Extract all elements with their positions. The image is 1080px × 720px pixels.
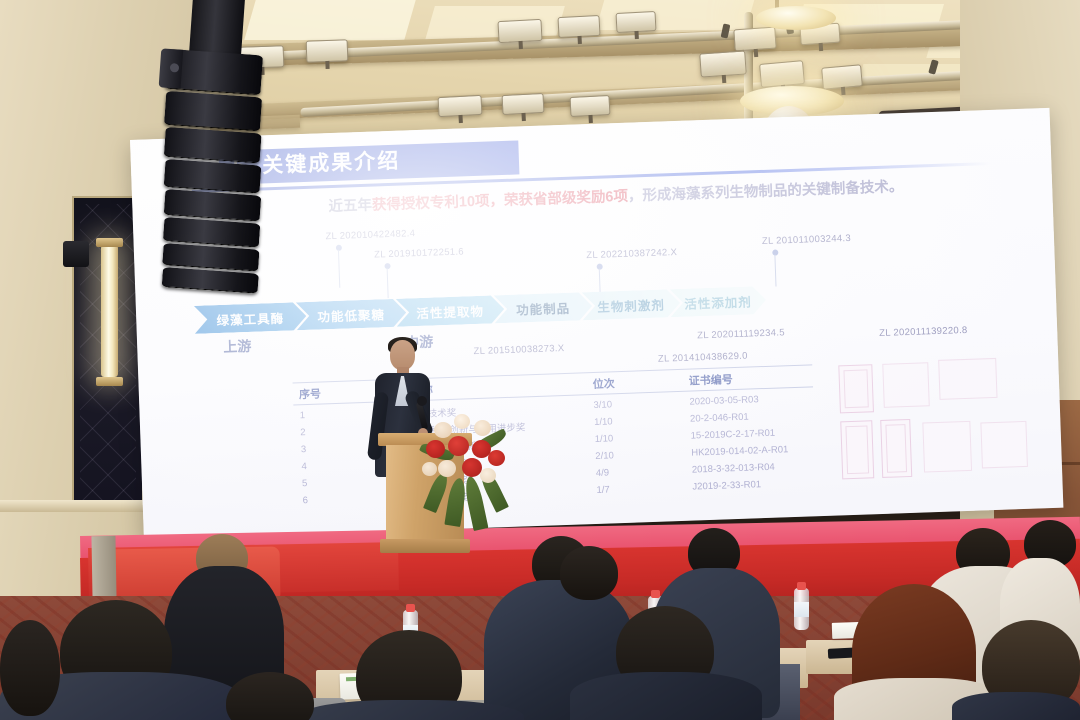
table-cell: 2/10 — [595, 450, 614, 462]
flower-white — [454, 414, 470, 429]
stage-light — [616, 11, 657, 33]
stage-light — [570, 95, 611, 117]
audience-body — [952, 692, 1080, 720]
flower-white — [480, 468, 496, 483]
audience-head — [560, 546, 618, 600]
flow-step-4: 功能制品 — [494, 292, 593, 323]
stage-sofa-arm — [91, 536, 116, 598]
sconce-cap — [96, 377, 123, 386]
sconce-cap — [96, 238, 123, 247]
flower-white — [422, 462, 437, 476]
bottle-cap — [651, 590, 660, 598]
patent-leader-line — [774, 255, 776, 287]
flow-step-5: 生物刺激剂 — [582, 289, 681, 320]
flow-step-6: 活性添加剂 — [670, 286, 767, 317]
wall-sconce-light — [101, 245, 118, 377]
stage-light — [438, 95, 483, 117]
presenter-head — [390, 340, 415, 370]
certificate-thumbnail — [980, 421, 1028, 469]
table-cell: 3 — [301, 444, 307, 455]
table-header-cell: 位次 — [593, 375, 616, 392]
patent-leader-line — [338, 250, 340, 288]
table-cell: 6 — [303, 495, 309, 506]
chandelier-shade — [756, 6, 836, 30]
table-cell: J2019-2-33-R01 — [692, 479, 761, 492]
bottle-cap — [406, 604, 415, 612]
bottle-label — [794, 602, 809, 617]
certificate-thumbnail — [840, 420, 874, 479]
stage-light — [497, 19, 542, 43]
audience-body — [570, 672, 762, 720]
microphone-head — [417, 396, 427, 406]
stage-light — [306, 39, 349, 62]
table-cell: 4 — [301, 461, 307, 472]
lectern-base — [380, 539, 470, 553]
table-cell: 3/10 — [593, 399, 612, 411]
certificate-thumbnail — [882, 362, 930, 408]
certificate-thumbnail — [938, 358, 997, 400]
table-cell: 15-2019C-2-17-R01 — [690, 428, 775, 442]
table-cell: 1/10 — [595, 433, 614, 445]
patent-leader-line — [599, 269, 601, 295]
patent-number: ZL 201910172251.6 — [374, 246, 464, 260]
leaf — [444, 477, 467, 527]
table-cell: 1/10 — [594, 416, 613, 428]
flower-red — [488, 450, 505, 466]
flower-red — [426, 440, 445, 458]
table-cell: 5 — [302, 478, 308, 489]
table-cell: 2018-3-32-013-R04 — [692, 462, 775, 476]
stage-light — [502, 93, 545, 115]
bottle-cap — [797, 582, 806, 590]
table-header-cell: 证书编号 — [688, 371, 733, 389]
table-header-cell: 序号 — [299, 385, 322, 402]
patent-number: ZL 202010422482.4 — [325, 228, 415, 242]
stage-light — [557, 15, 600, 38]
flower-white — [474, 420, 491, 436]
subtitle-prefix: 近五年 — [328, 198, 372, 216]
flower-white — [434, 422, 452, 438]
flower-white — [438, 460, 456, 477]
flower-arrangement — [418, 406, 508, 526]
table-cell: 2020-03-05-R03 — [689, 394, 759, 407]
table-cell: 1 — [300, 410, 306, 421]
flower-red — [448, 436, 469, 456]
table-cell: 2 — [300, 427, 306, 438]
stage-light — [759, 60, 805, 88]
table-cell: 4/9 — [596, 467, 610, 478]
subtitle-tail: ，形成海藻系列生物制品的关键制备技术。 — [628, 179, 904, 205]
flow-step-3: 活性提取物 — [396, 295, 505, 327]
patent-number: ZL 201410438629.0 — [658, 351, 748, 365]
patent-number: ZL 202011139220.8 — [879, 325, 968, 339]
projection-screen: 5. 关键成果介绍 近五年获得授权专利10项，荣获省部级奖励6项，形成海藻系列生… — [130, 108, 1063, 540]
audience-body — [298, 700, 524, 720]
line-array-speaker — [139, 0, 282, 324]
stage-light — [733, 27, 776, 52]
certificate-thumbnail — [880, 419, 912, 478]
patent-number: ZL 202011119234.5 — [697, 327, 785, 341]
certificate-thumbnail — [922, 421, 972, 473]
conference-hall-photo: 5. 关键成果介绍 近五年获得授权专利10项，荣获省部级奖励6项，形成海藻系列生… — [0, 0, 1080, 720]
patent-leader-line — [387, 268, 389, 298]
table-cell: 20-2-046-R01 — [690, 412, 749, 425]
subtitle-highlight: 获得授权专利10项，荣获省部级奖励6项 — [372, 189, 629, 214]
flower-red — [462, 458, 482, 477]
patent-number: ZL 201011003244.3 — [762, 233, 851, 247]
certificate-thumbnail — [838, 364, 874, 413]
table-cell: HK2019-014-02-A-R01 — [691, 444, 788, 458]
chain-segment-label: 上游 — [223, 336, 252, 357]
audience-head — [0, 620, 60, 716]
patent-number: ZL 201510038273.X — [473, 343, 564, 357]
flow-step-2: 功能低聚糖 — [296, 298, 407, 330]
stage-light — [821, 64, 863, 89]
wall-speaker — [63, 241, 89, 267]
stage-light — [699, 50, 747, 77]
table-cell: 1/7 — [596, 484, 610, 495]
patent-number: ZL 202210387242.X — [586, 247, 677, 261]
